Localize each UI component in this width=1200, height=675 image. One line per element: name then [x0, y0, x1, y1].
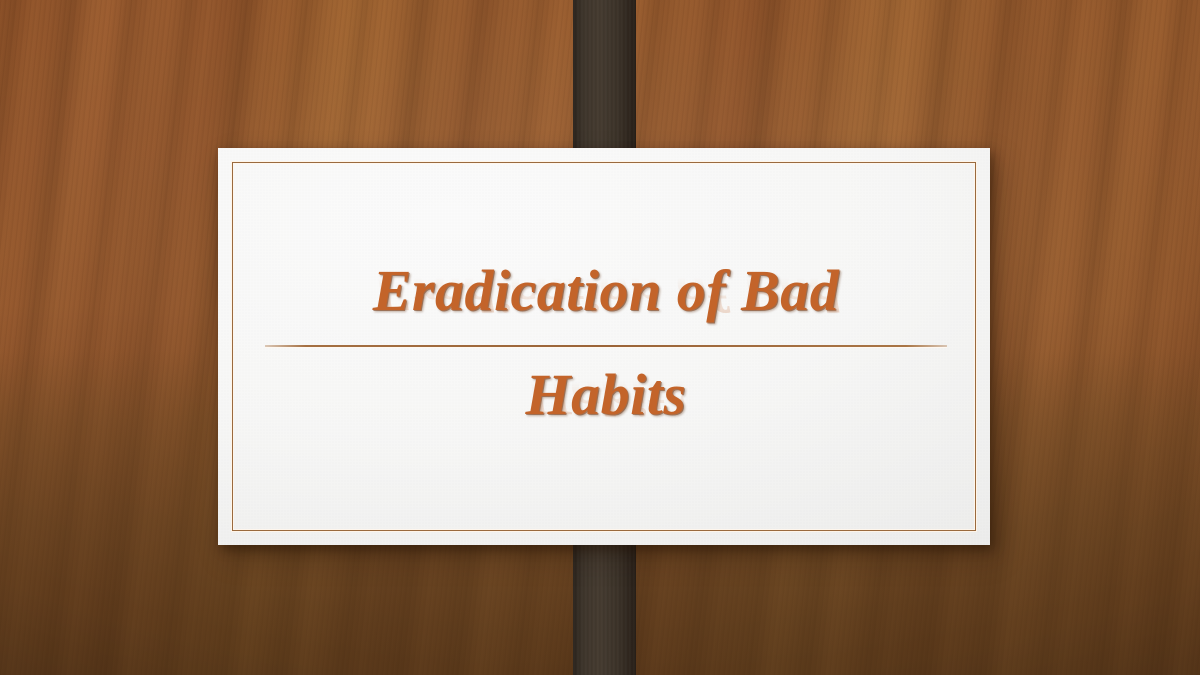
title-card: Eradication of Bad Eradication of Bad Ha… — [218, 148, 990, 545]
presentation-slide: Eradication of Bad Eradication of Bad Ha… — [0, 0, 1200, 675]
slide-title[interactable]: Eradication of Bad Eradication of Bad — [265, 260, 947, 322]
title-line-1-wrap: Eradication of Bad Eradication of Bad — [265, 260, 947, 322]
vertical-strap-top — [573, 0, 636, 164]
slide-title-second-line[interactable]: Habits Habits — [265, 364, 947, 426]
title-underline-rule — [265, 345, 947, 347]
title-line-1: Eradication of Bad — [265, 260, 947, 322]
title-line-2-wrap: Habits Habits — [265, 364, 947, 426]
title-line-2: Habits — [265, 364, 947, 426]
